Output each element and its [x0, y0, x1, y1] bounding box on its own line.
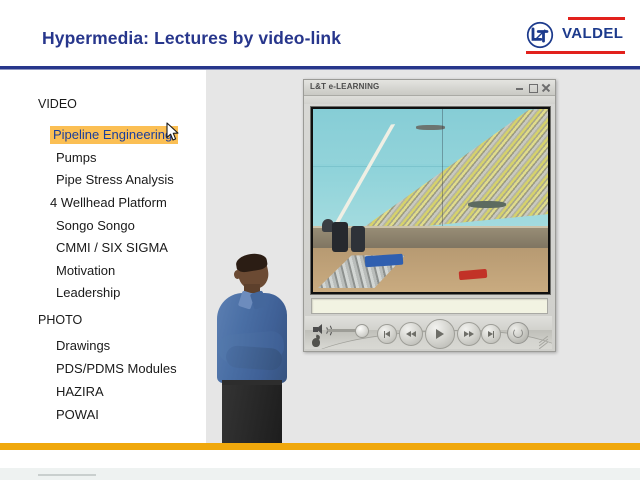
- sidebar-item-pipeline-engineering[interactable]: Pipeline Engineering: [50, 126, 178, 144]
- rewind-button[interactable]: [399, 322, 423, 346]
- sidebar-item-hazira[interactable]: HAZIRA: [53, 383, 107, 400]
- presenter-photo: [212, 255, 294, 443]
- video-worker-2: [351, 226, 365, 252]
- sidebar-item-cmmi-six-sigma[interactable]: CMMI / SIX SIGMA: [53, 239, 171, 256]
- sidebar-item-4-wellhead-platform[interactable]: 4 Wellhead Platform: [47, 194, 170, 211]
- maximize-icon[interactable]: [528, 83, 537, 92]
- player-window-title: L&T e-LEARNING: [310, 82, 379, 91]
- video-distant-boat: [416, 125, 444, 130]
- video-boat: [468, 201, 506, 208]
- footer-marker: [38, 474, 96, 476]
- close-icon[interactable]: [541, 83, 550, 92]
- page-title: Hypermedia: Lectures by video-link: [42, 28, 341, 49]
- player-status-bar: [311, 298, 548, 314]
- volume-speaker-icon[interactable]: [313, 324, 325, 335]
- player-menu-strip: [304, 96, 555, 104]
- sidebar-item-powai[interactable]: POWAI: [53, 406, 102, 423]
- presenter-legs: [222, 385, 282, 443]
- sidebar-item-leadership[interactable]: Leadership: [53, 284, 123, 301]
- media-player-window[interactable]: L&T e-LEARNING: [303, 79, 556, 352]
- sidebar-item-pds-pdms-modules[interactable]: PDS/PDMS Modules: [53, 360, 180, 377]
- resize-grip-icon[interactable]: [537, 337, 549, 347]
- logo-brand-text: VALDEL: [562, 25, 623, 42]
- video-canvas: [313, 109, 548, 292]
- footer-white-band: [0, 450, 640, 468]
- fast-forward-button[interactable]: [457, 322, 481, 346]
- volume-slider-handle[interactable]: [355, 324, 369, 338]
- logo-rule-top: [568, 17, 625, 20]
- presenter-arm-lower: [225, 345, 282, 371]
- mouse-cursor-icon: [166, 122, 180, 142]
- footer-accent-bar: [0, 443, 640, 450]
- player-title-bar[interactable]: L&T e-LEARNING: [304, 80, 555, 96]
- minimize-icon[interactable]: [515, 83, 524, 92]
- sidebar-item-motivation[interactable]: Motivation: [53, 262, 118, 279]
- sidebar-item-pumps[interactable]: Pumps: [53, 149, 99, 166]
- apple-logo-icon: [312, 338, 320, 347]
- sidebar-item-drawings[interactable]: Drawings: [53, 337, 113, 354]
- slide-canvas: Hypermedia: Lectures by video-link VALDE…: [0, 0, 640, 480]
- skip-forward-button[interactable]: [481, 324, 501, 344]
- sidebar-heading-video: VIDEO: [38, 97, 77, 111]
- footer-grey-band: [0, 468, 640, 480]
- player-control-bar: [305, 316, 552, 349]
- presenter-ear: [234, 270, 241, 279]
- play-button[interactable]: [425, 319, 455, 349]
- slide-header: Hypermedia: Lectures by video-link VALDE…: [0, 0, 640, 68]
- skip-back-button[interactable]: [377, 324, 397, 344]
- logo-rule-bottom: [526, 51, 625, 54]
- sidebar-item-pipe-stress-analysis[interactable]: Pipe Stress Analysis: [53, 171, 177, 188]
- valdel-logo: VALDEL: [508, 12, 626, 56]
- video-ramp-rail: [442, 109, 443, 241]
- video-worker-1: [332, 222, 348, 251]
- favorites-knob[interactable]: [507, 322, 529, 344]
- video-sea-wall-cap: [313, 226, 548, 228]
- video-frame[interactable]: [310, 106, 551, 295]
- l-and-t-monogram-icon: [526, 21, 554, 49]
- sidebar-item-songo-songo[interactable]: Songo Songo: [53, 217, 138, 234]
- window-controls: [515, 83, 550, 92]
- video-sea-wall: [313, 226, 548, 250]
- sidebar-heading-photo: PHOTO: [38, 313, 82, 327]
